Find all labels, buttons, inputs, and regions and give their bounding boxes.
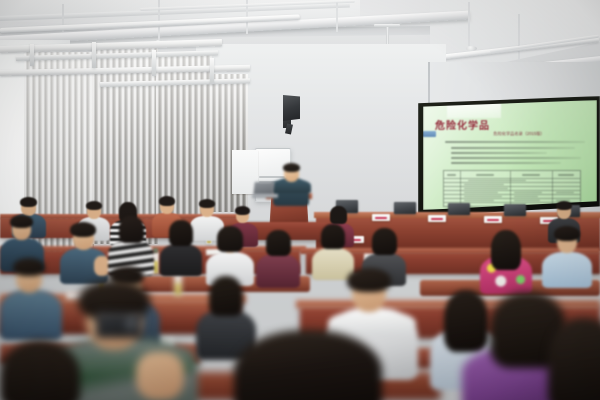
hair bbox=[13, 258, 45, 276]
light-hanger-6 bbox=[518, 14, 520, 60]
sprinkler-head-2 bbox=[466, 46, 477, 51]
hair bbox=[70, 222, 96, 237]
hair bbox=[209, 276, 243, 316]
slide-bullet-line-3 bbox=[451, 157, 581, 159]
table-row-line-5 bbox=[444, 194, 580, 195]
table-cell-text-10 bbox=[556, 192, 574, 194]
presenter-hair bbox=[283, 163, 300, 172]
hair bbox=[556, 201, 572, 210]
audience-member-mid-floral bbox=[480, 230, 532, 294]
table-cell-text-13 bbox=[464, 200, 494, 202]
hair bbox=[86, 201, 102, 210]
presenter-laptop bbox=[252, 182, 278, 198]
hair bbox=[169, 220, 193, 246]
table-cell-text-11 bbox=[464, 196, 502, 198]
hair bbox=[235, 206, 250, 215]
hair bbox=[347, 268, 391, 292]
placard-text-1 bbox=[375, 217, 387, 219]
table-row-line-1 bbox=[444, 178, 580, 179]
table-col-line-2 bbox=[510, 171, 511, 206]
name-placard-2 bbox=[428, 215, 446, 222]
table-row-line-6 bbox=[444, 198, 580, 199]
torso bbox=[542, 252, 592, 288]
hair bbox=[217, 226, 243, 252]
placard-text-3 bbox=[487, 219, 499, 221]
projection-screen: 危险化学品 危险化学品名录（2015版） bbox=[423, 100, 597, 210]
hair bbox=[20, 197, 37, 207]
audience-member-mid-blue bbox=[542, 226, 592, 286]
hair bbox=[321, 224, 345, 249]
audience-member-mid-3 bbox=[256, 230, 300, 286]
slide-title: 危险化学品 bbox=[435, 117, 490, 132]
camera-lens bbox=[124, 316, 142, 334]
hair bbox=[10, 215, 33, 228]
table-cell-text-1 bbox=[447, 174, 456, 176]
window-mullion-vertical-1 bbox=[30, 44, 34, 66]
foreground-left-head bbox=[0, 340, 80, 400]
torso bbox=[256, 254, 300, 288]
audience-member-mid-2 bbox=[160, 220, 202, 274]
table-cell-text-4 bbox=[558, 174, 574, 176]
table-row-line-2 bbox=[444, 182, 580, 183]
hair bbox=[330, 206, 347, 224]
table-row-line-3 bbox=[444, 186, 580, 187]
hair bbox=[234, 330, 382, 400]
table-cell-text-2 bbox=[476, 174, 494, 176]
window-mullion-vertical-3 bbox=[152, 50, 156, 76]
desk-monitor-3 bbox=[448, 203, 470, 215]
slide-bullet-line-4 bbox=[451, 162, 561, 164]
window-mullion-vertical-4 bbox=[210, 58, 214, 84]
torso bbox=[160, 244, 202, 276]
window-mullion-vertical-2 bbox=[92, 42, 96, 68]
slide-intro-line bbox=[445, 141, 585, 143]
name-placard-3 bbox=[484, 216, 502, 223]
table-cell-text-7 bbox=[464, 188, 508, 190]
hair bbox=[119, 216, 144, 243]
desk-monitor-2 bbox=[394, 202, 416, 214]
hair bbox=[554, 226, 580, 241]
hair bbox=[372, 228, 397, 255]
desk-monitor-4 bbox=[504, 204, 526, 216]
placard-text-2 bbox=[431, 218, 443, 220]
arm bbox=[136, 352, 184, 400]
hair bbox=[491, 230, 521, 270]
table-cell-text-8 bbox=[464, 192, 498, 194]
foreground-right-head bbox=[548, 318, 600, 400]
laptop-base bbox=[252, 194, 278, 198]
table-cell-text-14 bbox=[514, 200, 540, 202]
handheld-camera bbox=[96, 312, 142, 338]
foreground-long-hair-woman bbox=[234, 330, 382, 400]
slide-heading: 危险化学品名录（2015版） bbox=[459, 131, 579, 137]
hair bbox=[199, 199, 215, 208]
hair bbox=[548, 318, 600, 400]
light-hanger-5 bbox=[468, 2, 470, 46]
table-col-line-1 bbox=[460, 171, 461, 206]
classroom-photo-scene: 危险化学品 危险化学品名录（2015版） bbox=[0, 0, 600, 400]
projector-ceiling-plate bbox=[374, 24, 400, 27]
light-hanger-4 bbox=[336, 2, 338, 32]
table-cell-text-3 bbox=[522, 174, 540, 176]
table-row-line-4 bbox=[444, 190, 580, 191]
slide-bullet-line-1 bbox=[451, 147, 575, 149]
table-cell-text-6 bbox=[464, 184, 504, 186]
hair bbox=[159, 196, 175, 206]
table-cell-text-5 bbox=[468, 180, 526, 182]
table-cell-text-9 bbox=[514, 192, 542, 194]
name-placard-1 bbox=[372, 214, 390, 221]
slide-side-tab bbox=[423, 131, 436, 137]
hair bbox=[0, 340, 80, 400]
table-cell-text-12 bbox=[514, 196, 538, 198]
slide-bullet-line-2 bbox=[451, 152, 547, 154]
wall-speaker bbox=[283, 95, 300, 121]
hair bbox=[266, 230, 291, 256]
